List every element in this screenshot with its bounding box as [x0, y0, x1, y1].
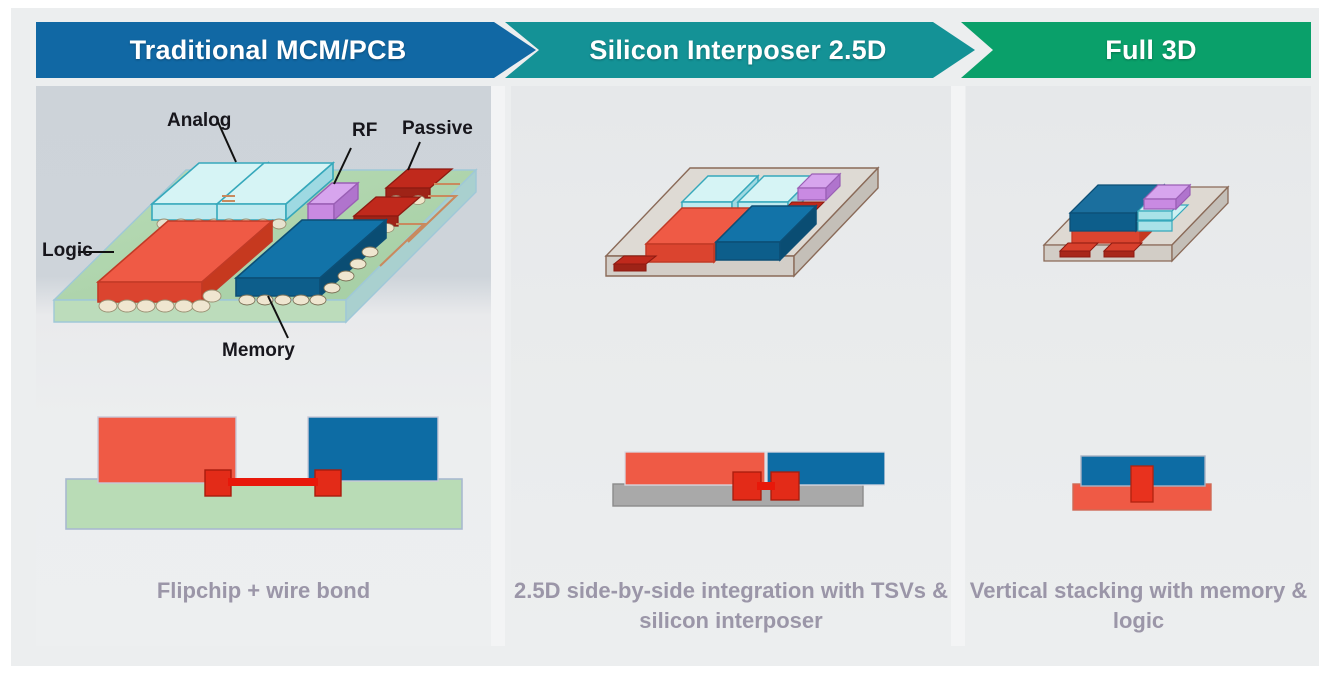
panel3-isometric-illustration [1030, 165, 1260, 295]
pcb-substrate-xsec [66, 479, 462, 529]
column-divider-2 [951, 86, 965, 646]
panel2-cross-section [585, 438, 885, 528]
panel2-isometric-illustration [590, 140, 920, 300]
header-full-3d[interactable]: Full 3D [961, 22, 1311, 78]
tsv-pad-right [771, 472, 799, 500]
header-silicon-interposer-2-5d[interactable]: Silicon Interposer 2.5D [505, 22, 975, 78]
caption-panel-2: 2.5D side-by-side integration with TSVs … [511, 576, 951, 636]
caption-panel-1: Flipchip + wire bond [36, 576, 491, 606]
microbump-link [757, 482, 775, 490]
label-logic: Logic [42, 240, 93, 262]
tsv-pad-left [733, 472, 761, 500]
header-traditional-mcm-pcb[interactable]: Traditional MCM/PCB [36, 22, 536, 78]
bond-pad-right [315, 470, 341, 496]
label-analog: Analog [167, 110, 231, 132]
label-memory: Memory [222, 340, 295, 362]
header-label: Traditional MCM/PCB [130, 35, 407, 66]
panel1-cross-section [50, 395, 490, 540]
label-passive: Passive [402, 118, 473, 140]
caption-panel-3: Vertical stacking with memory & logic [966, 576, 1311, 636]
diagram-root: Traditional MCM/PCB Silicon Interposer 2… [0, 0, 1330, 682]
panel3-cross-section [1045, 438, 1265, 528]
wire-bond [228, 478, 318, 486]
label-rf: RF [352, 120, 377, 142]
bond-pad-left [205, 470, 231, 496]
header-label: Full 3D [1105, 35, 1196, 66]
tsv-via [1131, 466, 1153, 502]
header-label: Silicon Interposer 2.5D [589, 35, 886, 66]
